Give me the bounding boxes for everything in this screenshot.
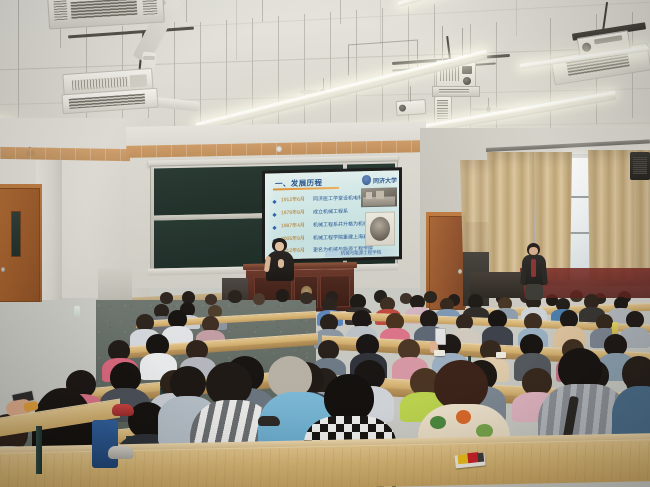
door-handle-icon[interactable] (1, 267, 5, 272)
slide-row-text: 同济医工学堂设机电科 (313, 194, 363, 202)
projector-rod (442, 26, 443, 62)
slide-row-text: 成立机械工程系 (313, 208, 348, 216)
duct-band (143, 56, 155, 60)
ceiling-seam (380, 0, 381, 44)
water-bottle[interactable] (74, 306, 80, 317)
fan-downrod (323, 78, 324, 89)
hanger-rod (340, 0, 341, 24)
door-vision-panel (11, 211, 21, 257)
window-mullion (568, 232, 590, 234)
wall-brick-band (0, 147, 130, 161)
fan-downrod (488, 98, 489, 107)
presenter-hand (278, 259, 284, 268)
standing-person-lanyard (531, 259, 536, 277)
head (434, 360, 488, 410)
curtain-panel[interactable] (460, 160, 494, 252)
slide-portrait-frame (365, 211, 395, 246)
hanger-rod (262, 0, 263, 22)
presenter (262, 238, 298, 282)
ceiling-seam (516, 0, 517, 36)
chair-blue (92, 420, 118, 468)
slide-historic-photo (361, 187, 397, 207)
standing-person-face (529, 247, 538, 255)
slide-row-date: 1912年6月 (281, 196, 305, 204)
slide-title-underline (273, 187, 339, 190)
slide-footer: 机械与能源工程学院 (325, 248, 397, 257)
university-logo-icon (362, 175, 371, 185)
hanger-rod (186, 0, 187, 22)
hanger-rod (550, 18, 551, 130)
classroom-door-left[interactable] (0, 188, 40, 302)
shoe-grey (108, 446, 134, 459)
door-handle-icon[interactable] (458, 269, 462, 274)
lecture-hall-photo: 一、发展历程 同济大学 1912年6月 同济医工学堂设机电科 1979年8月 成… (0, 0, 650, 487)
desk-leg (36, 426, 42, 474)
projector-center (396, 99, 427, 116)
projector-rod (410, 86, 411, 102)
shoe-red (112, 404, 134, 416)
standing-person-arm (541, 265, 548, 285)
slide-row-date: 1987年4月 (281, 222, 305, 230)
hanger-rod (174, 22, 175, 142)
standing-person (519, 243, 549, 301)
front-platform-wall (98, 267, 132, 302)
standing-person-trousers (525, 284, 543, 300)
wall-loudspeaker (630, 152, 650, 180)
head (324, 374, 374, 422)
head (622, 356, 650, 390)
shoe-dark (258, 416, 280, 426)
hanger-rod (382, 8, 383, 140)
desk-object-pack-foreground[interactable] (454, 450, 486, 469)
presenter-face (275, 242, 284, 251)
ceiling-seam (236, 0, 237, 60)
wall-fixture-icon (276, 146, 282, 152)
slide-row-date: 1979年8月 (281, 209, 305, 217)
university-logo-text: 同济大学 (373, 175, 397, 185)
